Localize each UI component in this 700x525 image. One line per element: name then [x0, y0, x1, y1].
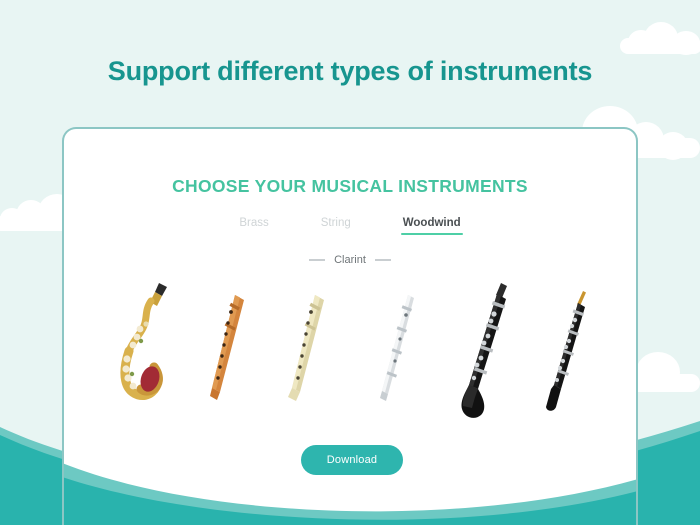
tab-brass[interactable]: Brass	[239, 217, 268, 235]
instrument-selector-card: CHOOSE YOUR MUSICAL INSTRUMENTS Brass St…	[62, 127, 638, 525]
dash-left-icon	[309, 259, 325, 261]
instrument-list	[64, 279, 638, 439]
card-title: CHOOSE YOUR MUSICAL INSTRUMENTS	[64, 176, 636, 197]
page-title: Support different types of instruments	[0, 56, 700, 87]
instrument-recorder-wood[interactable]	[204, 293, 252, 403]
instrument-clarinet[interactable]	[456, 281, 516, 427]
instrument-saxophone[interactable]	[110, 279, 182, 407]
instrument-subtitle: Clarint	[64, 254, 636, 266]
dash-right-icon	[375, 259, 391, 261]
tab-string-label: String	[321, 217, 351, 229]
tab-woodwind[interactable]: Woodwind	[403, 217, 461, 235]
instrument-category-tabs: Brass String Woodwind	[64, 217, 636, 235]
cloud-top-right-icon	[620, 22, 700, 52]
tab-woodwind-label: Woodwind	[403, 217, 461, 229]
card-wave	[62, 457, 638, 525]
instrument-oboe[interactable]	[542, 289, 594, 415]
tab-string[interactable]: String	[321, 217, 351, 235]
tab-brass-label: Brass	[239, 217, 268, 229]
subtitle-label: Clarint	[334, 254, 366, 266]
instrument-recorder-ivory[interactable]	[284, 293, 332, 403]
instrument-flute[interactable]	[374, 293, 422, 403]
